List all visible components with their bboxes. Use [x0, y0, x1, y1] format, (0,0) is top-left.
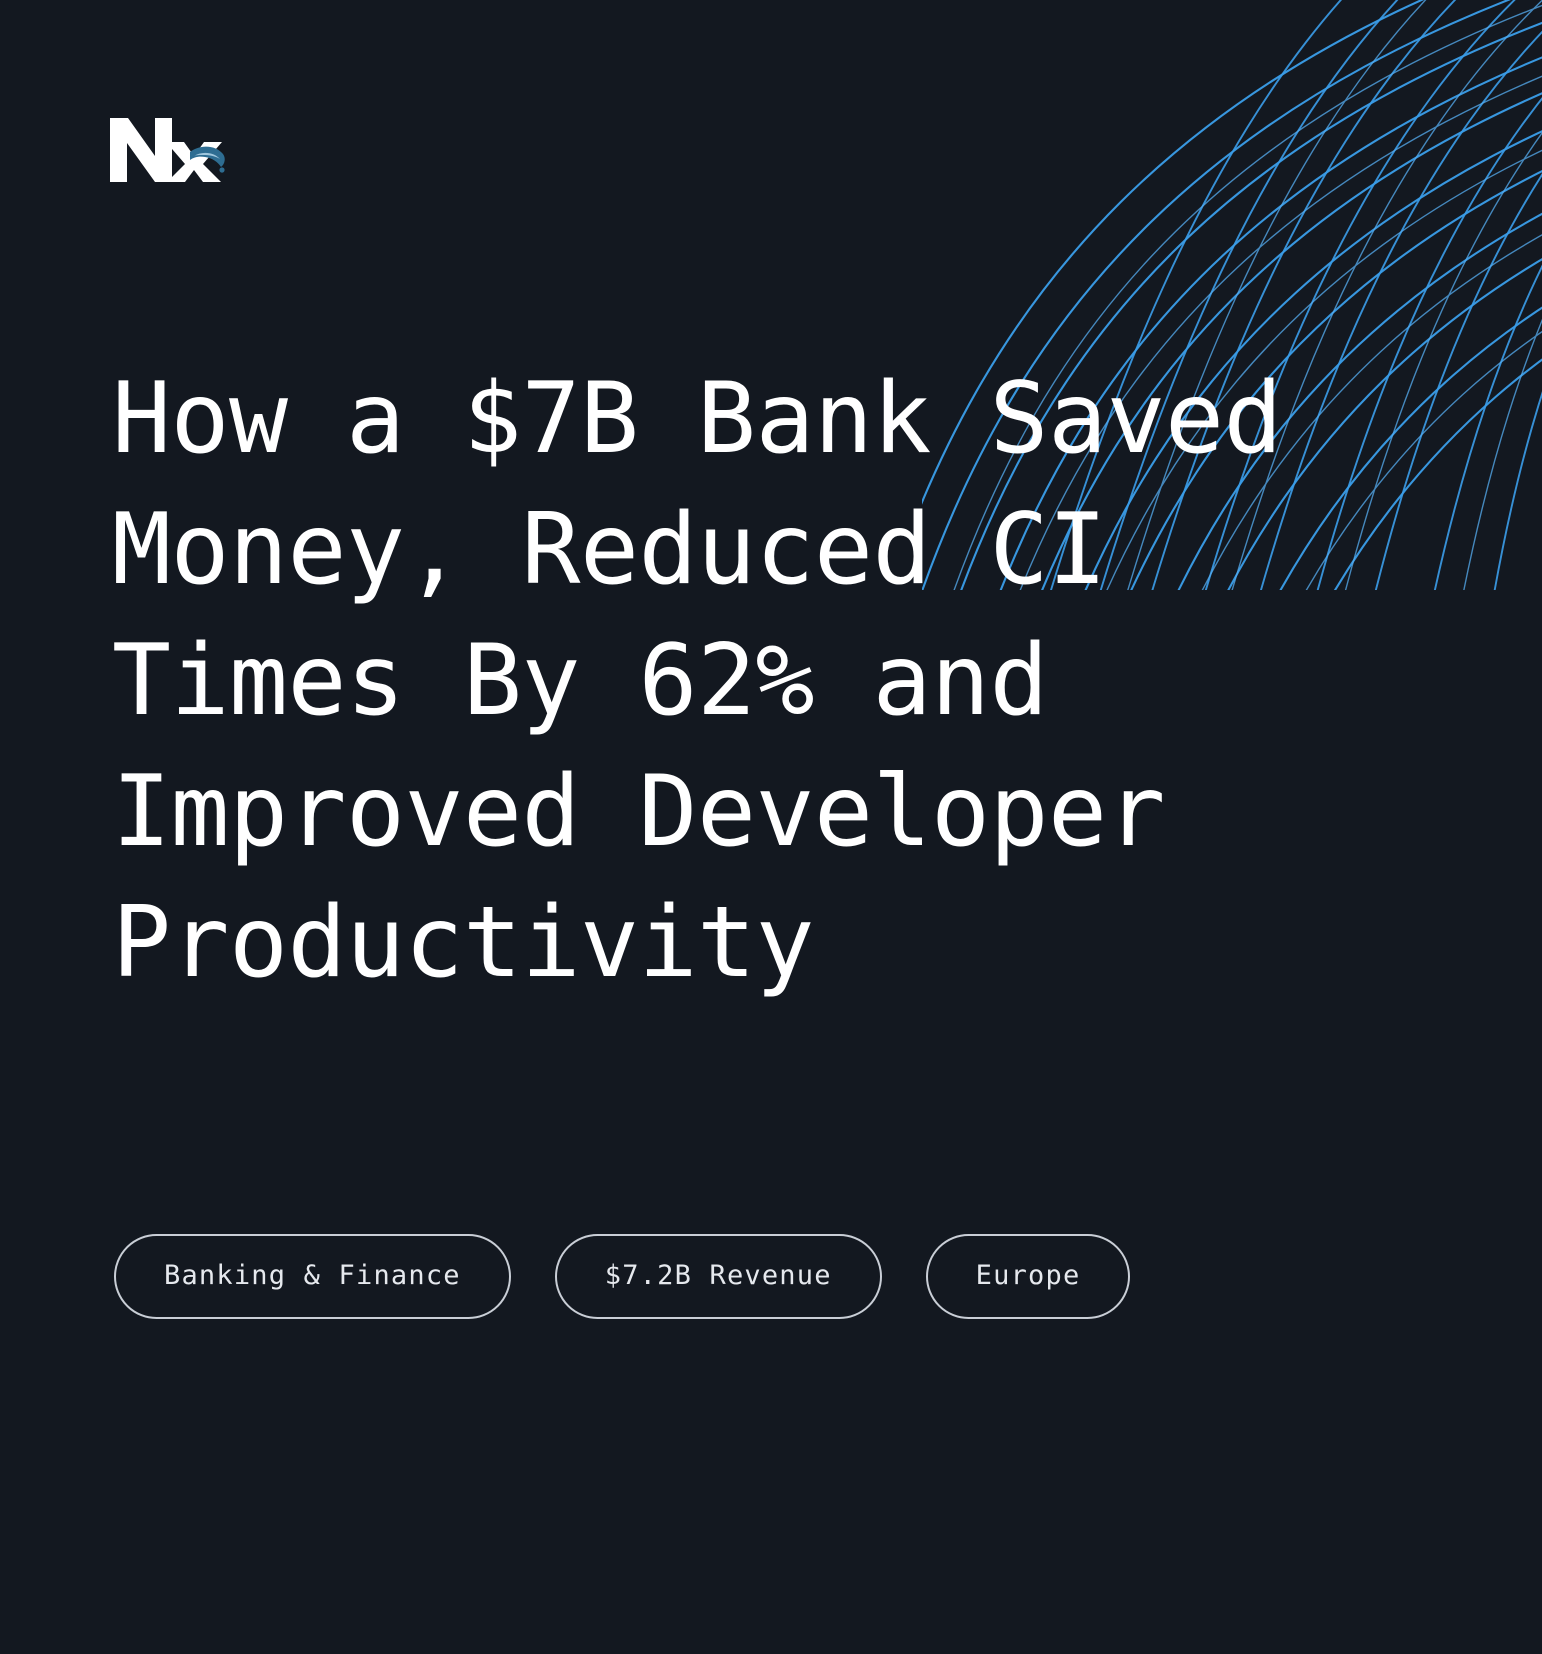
- tag-industry[interactable]: Banking & Finance: [114, 1234, 511, 1319]
- tag-revenue[interactable]: $7.2B Revenue: [555, 1234, 882, 1319]
- page-title: How a $7B Bank Saved Money, Reduced CI T…: [112, 354, 1432, 1009]
- nx-logo[interactable]: [108, 112, 234, 188]
- tag-region[interactable]: Europe: [926, 1234, 1131, 1319]
- tag-list: Banking & Finance $7.2B Revenue Europe: [114, 1234, 1130, 1319]
